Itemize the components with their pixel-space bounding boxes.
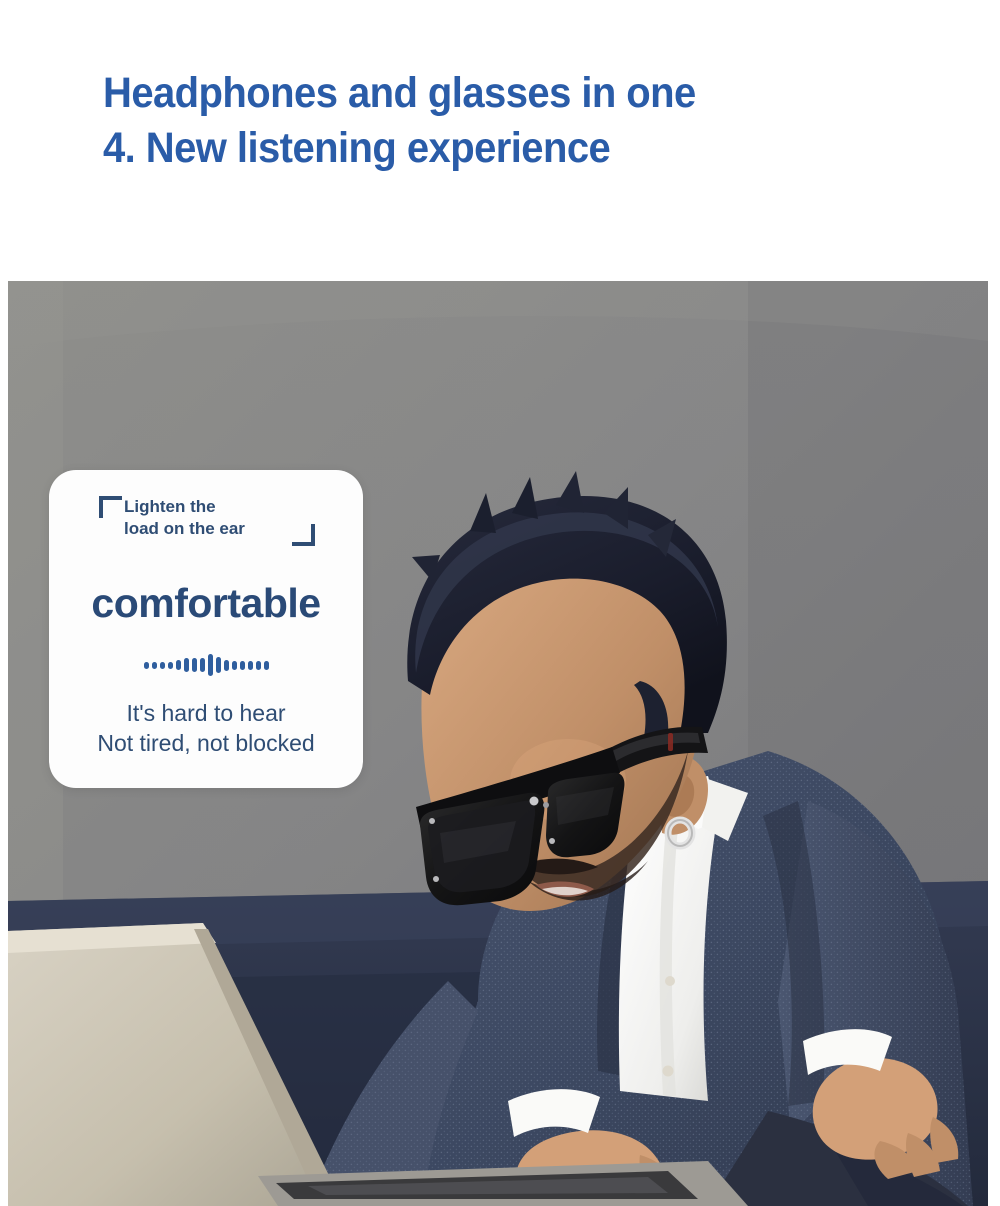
waveform-bar: [176, 660, 181, 670]
bracket-bottom-right-icon: [292, 524, 315, 546]
waveform-bar: [264, 661, 269, 670]
waveform-bar: [256, 661, 261, 670]
page-title-line-2: 4. New listening experience: [103, 121, 866, 176]
card-headline: comfortable: [49, 580, 363, 627]
waveform-bar: [216, 657, 221, 673]
page-title-line-1: Headphones and glasses in one: [103, 66, 866, 121]
product-marketing-page: Headphones and glasses in one 4. New lis…: [0, 0, 1000, 1206]
waveform-bar: [192, 658, 197, 672]
bracket-top-left-icon: [99, 496, 122, 518]
waveform-bar: [152, 662, 157, 669]
card-tagline: It's hard to hear Not tired, not blocked: [49, 698, 363, 758]
kicker-block: Lighten the load on the ear: [99, 496, 319, 562]
waveform-bar: [208, 654, 213, 676]
waveform-bar: [224, 660, 229, 671]
waveform-bar: [200, 658, 205, 672]
card-kicker-text: Lighten the load on the ear: [124, 496, 245, 540]
waveform-bar: [144, 662, 149, 669]
waveform-bar: [184, 658, 189, 672]
feature-callout-card: Lighten the load on the ear comfortable …: [49, 470, 363, 788]
audio-waveform-icon: [49, 652, 363, 678]
page-title: Headphones and glasses in one 4. New lis…: [103, 66, 866, 176]
waveform-bar: [232, 661, 237, 670]
waveform-bar: [168, 662, 173, 669]
waveform-bar: [248, 661, 253, 670]
waveform-bar: [160, 662, 165, 669]
waveform-bar: [240, 661, 245, 670]
